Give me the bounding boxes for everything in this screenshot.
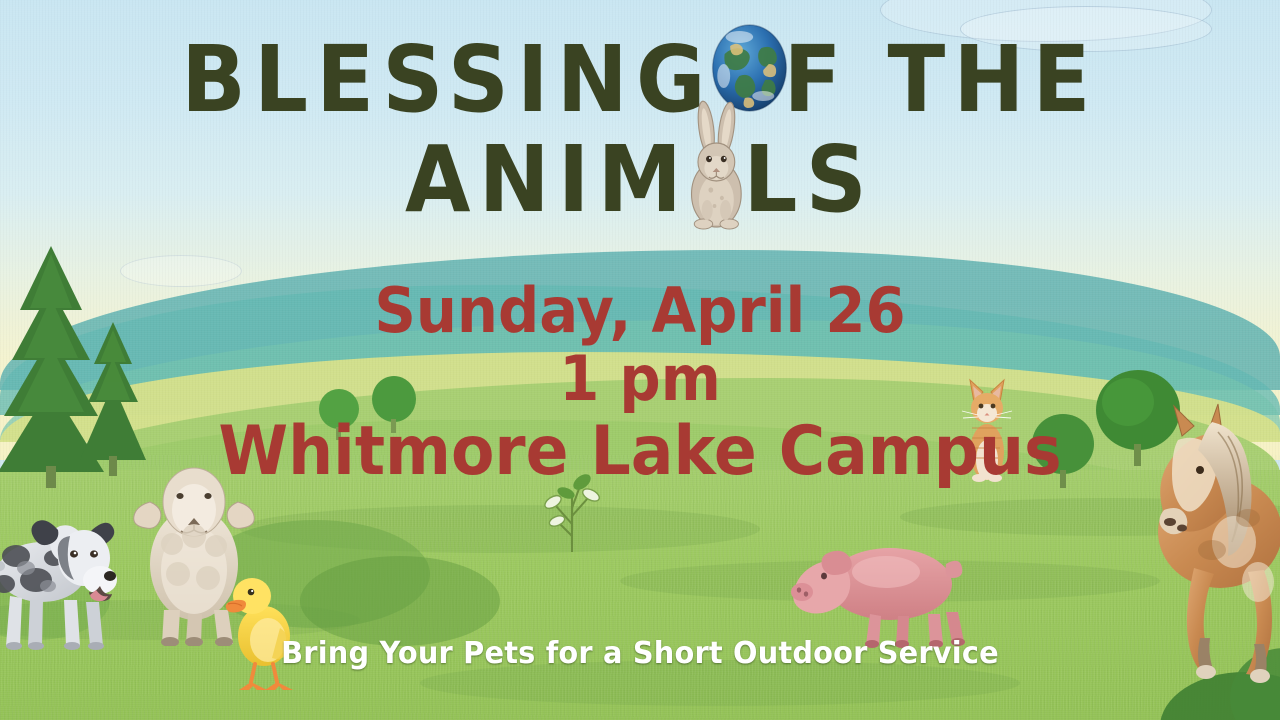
duckling-icon (224, 570, 296, 692)
pig-icon (786, 530, 976, 648)
rabbit-letter-slot (690, 210, 743, 211)
title-line-2: ANIMLS (51, 130, 1229, 230)
event-location: Whitmore Lake Campus (45, 414, 1235, 490)
title-text-anim: ANIM (405, 126, 690, 233)
bush-shape (300, 556, 500, 646)
event-tagline: Bring Your Pets for a Short Outdoor Serv… (26, 636, 1255, 671)
event-poster: BLESSINGF THE ANIMLS Sunday, April 26 1 … (0, 0, 1280, 720)
event-details: Sunday, April 26 1 pm Whitmore Lake Camp… (0, 278, 1280, 490)
title-text-blessing: BLESSING (181, 26, 713, 133)
poster-title: BLESSINGF THE ANIMLS (0, 30, 1280, 230)
event-date: Sunday, April 26 (45, 278, 1235, 344)
event-time: 1 pm (45, 344, 1235, 414)
title-line-1: BLESSINGF THE (51, 30, 1229, 130)
title-text-ls: LS (744, 126, 875, 233)
title-text-of-the: F THE (784, 26, 1099, 133)
rabbit-icon (674, 98, 759, 230)
